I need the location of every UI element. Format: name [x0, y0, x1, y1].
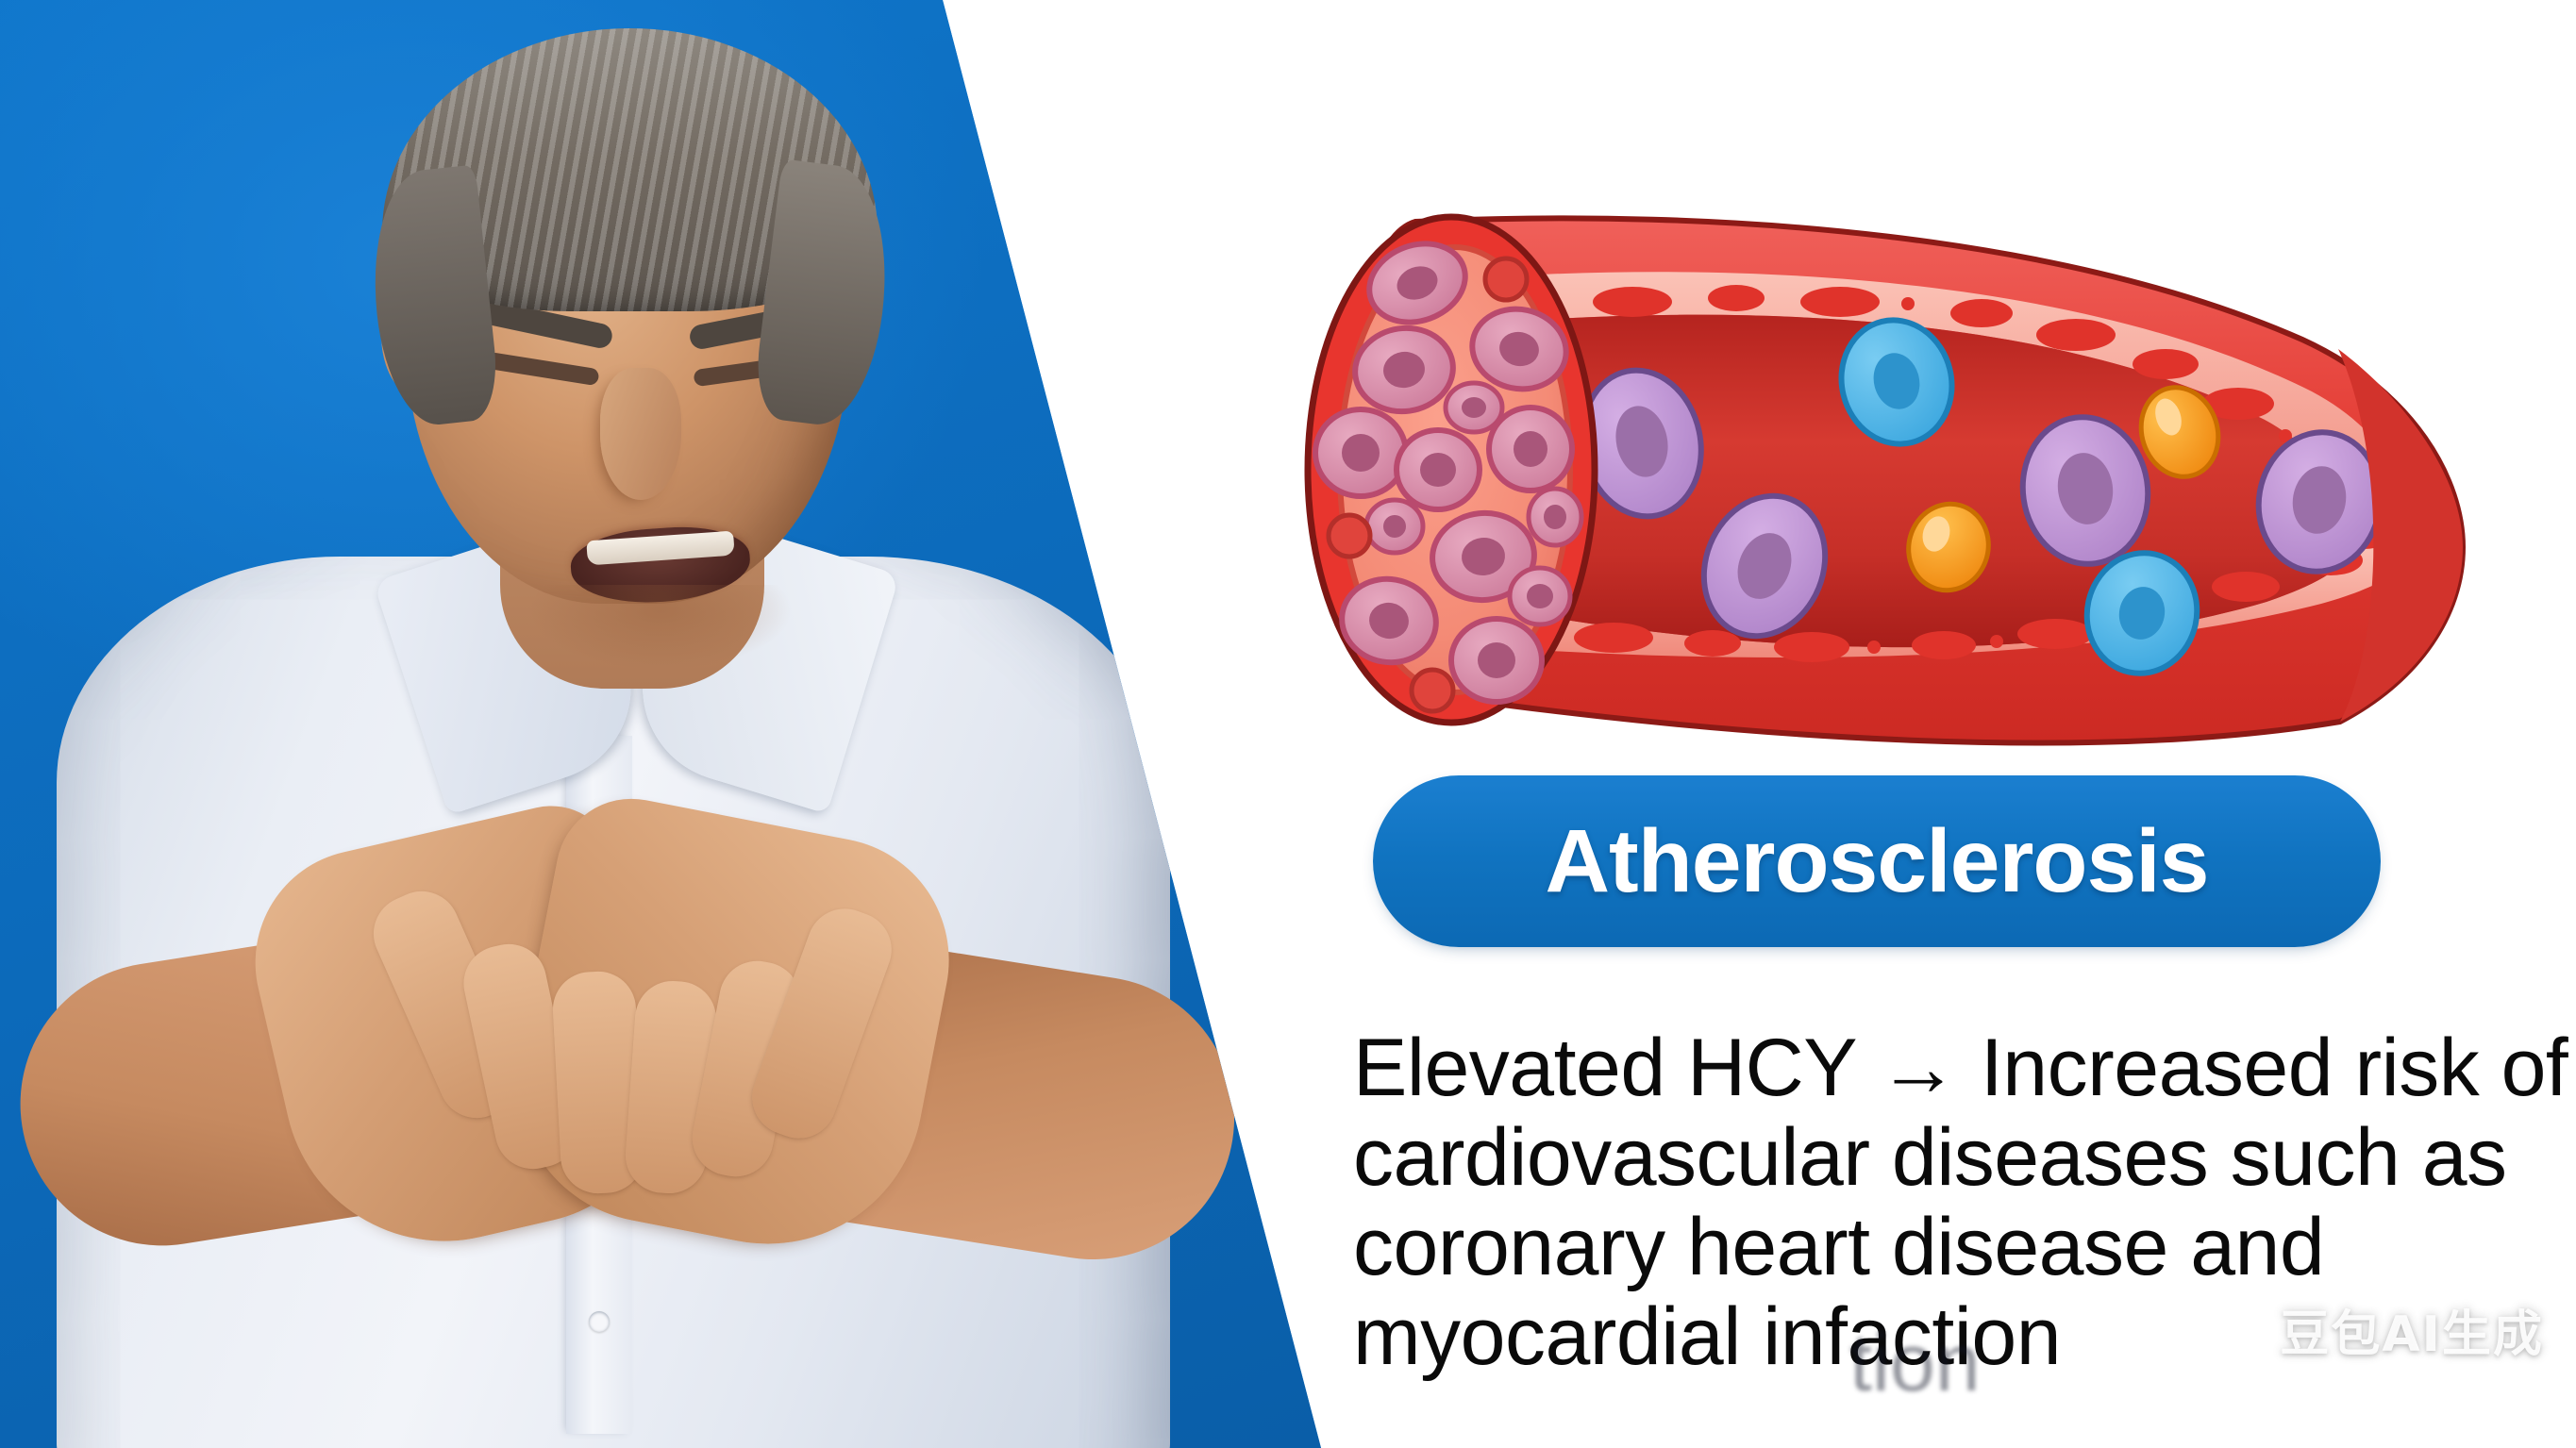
description-line-2: cardiovascular diseases such as: [1353, 1113, 2561, 1203]
description-line-1: Elevated HCY → Increased risk of: [1353, 1024, 2561, 1113]
atherosclerosis-badge[interactable]: Atherosclerosis: [1373, 775, 2381, 947]
nose: [600, 368, 681, 500]
blood-vessel-illustration: [1236, 170, 2491, 774]
screenshot-canvas: Atherosclerosis Elevated HCY → Increased…: [0, 0, 2576, 1448]
chin-shadow: [528, 585, 793, 670]
patient-photo-panel: [0, 0, 1340, 1448]
patient-figure: [0, 0, 1340, 1448]
content-panel: Atherosclerosis Elevated HCY → Increased…: [1340, 0, 2576, 1448]
badge-label: Atherosclerosis: [1545, 810, 2208, 913]
ai-watermark: 豆包AI生成: [2280, 1294, 2544, 1365]
description-line-3: coronary heart disease and: [1353, 1203, 2561, 1292]
shirt-button: [589, 1311, 610, 1332]
